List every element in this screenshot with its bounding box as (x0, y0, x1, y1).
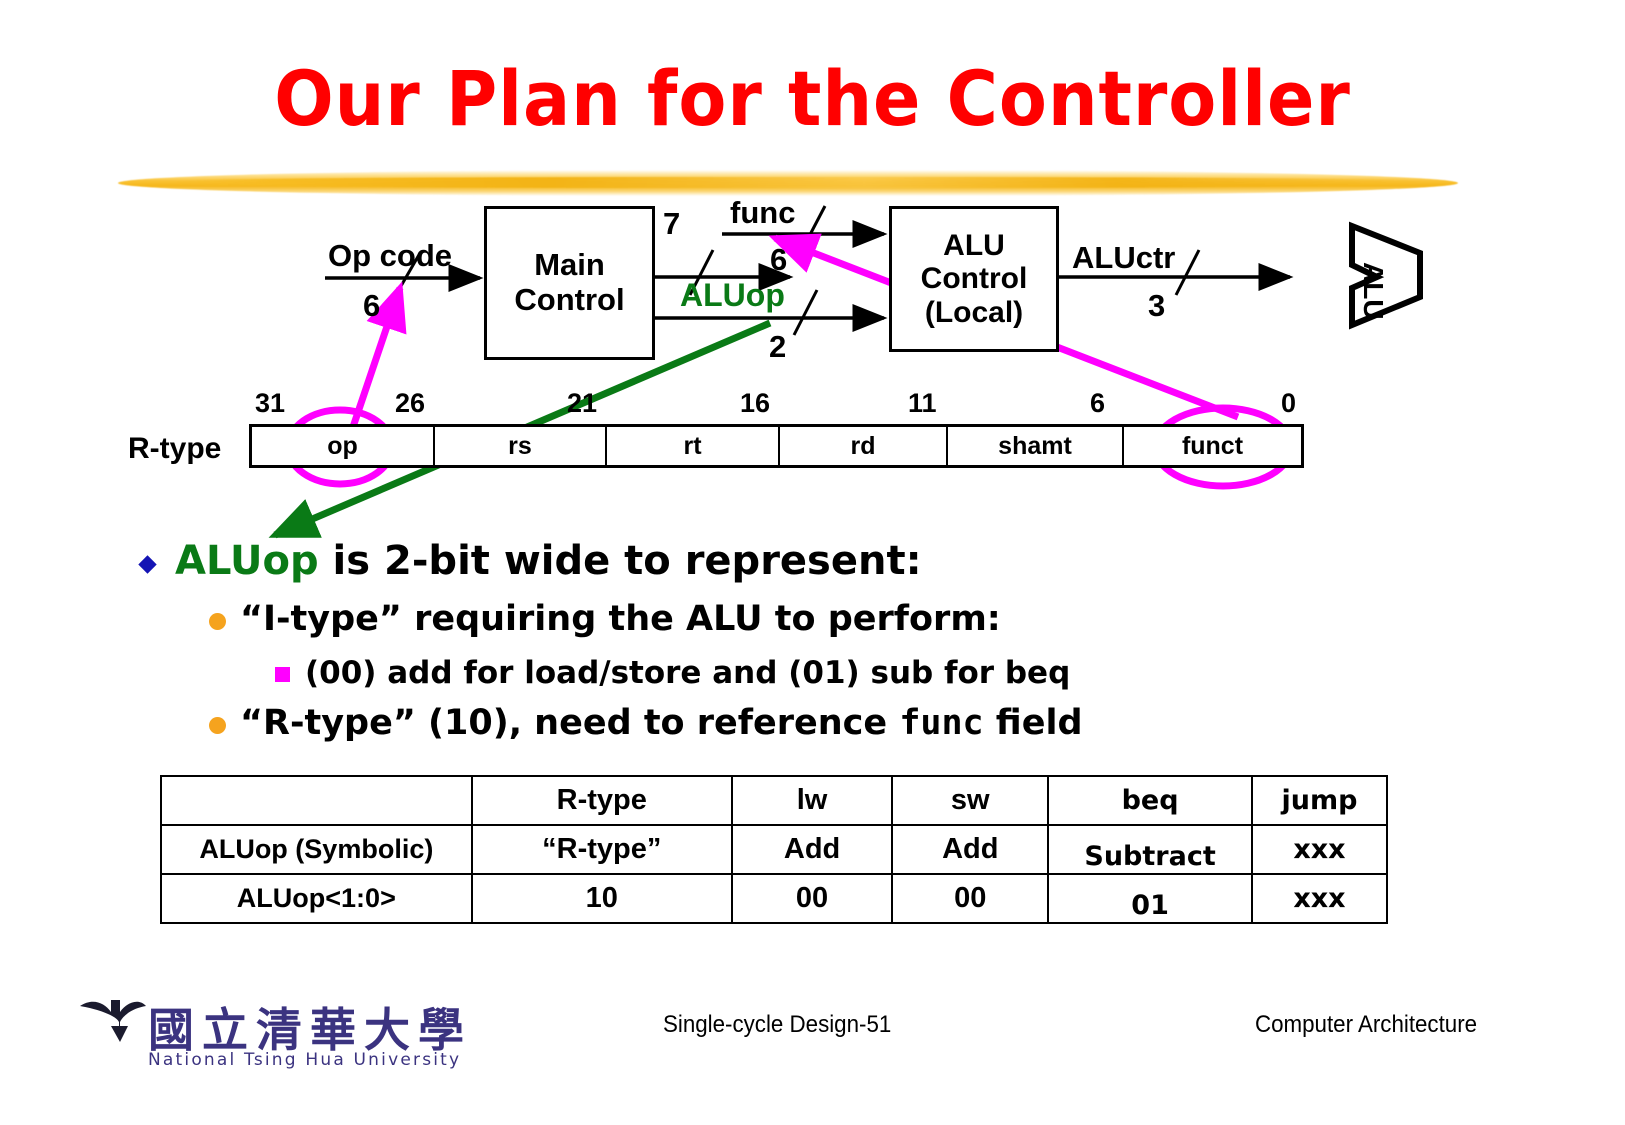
alu-control-block: ALU Control (Local) (889, 206, 1059, 352)
field-rs: rs (435, 427, 607, 465)
bullet-rtype-pre: “R-type” (10), need to reference (240, 703, 899, 743)
bullet-rtype-mono-func: func (899, 703, 983, 743)
alu-block-label: ALU (1357, 262, 1389, 320)
main-out-width-label: 7 (663, 206, 680, 242)
aluop-width-label: 2 (769, 329, 786, 365)
bullet-level1-aluop: ALUop is 2-bit wide to represent: (175, 538, 922, 584)
alu-control-line1: ALU (943, 229, 1005, 263)
aluop-encoding-table: R-type lw sw beq jump ALUop (Symbolic) “… (160, 775, 1388, 924)
table-col-beq: beq (1048, 776, 1252, 825)
alu-control-line2: Control (921, 262, 1028, 296)
alu-control-line3: (Local) (925, 296, 1023, 330)
bit-label-26: 26 (395, 388, 425, 419)
table-col-jump: jump (1252, 776, 1387, 825)
table-col-blank (161, 776, 472, 825)
cell-symbolic-rtype: “R-type” (472, 825, 732, 874)
main-control-block: Main Control (484, 206, 655, 360)
footer-right-text: Computer Architecture (1255, 1011, 1477, 1039)
main-control-line2: Control (514, 283, 624, 318)
field-rt: rt (607, 427, 780, 465)
table-col-sw: sw (892, 776, 1048, 825)
nthu-emblem-icon (78, 992, 148, 1050)
opcode-label: Op code (328, 238, 452, 274)
table-col-lw: lw (732, 776, 892, 825)
aluctr-width-label: 3 (1148, 288, 1165, 324)
bullet-marker-square (275, 667, 290, 682)
cell-symbolic-beq-text: Subtract (1084, 841, 1215, 872)
bullet-l1-rest: is 2-bit wide to represent: (319, 538, 922, 584)
cell-bits-lw: 00 (732, 874, 892, 923)
cell-bits-beq-text: 01 (1131, 890, 1169, 921)
cell-bits-rtype: 10 (472, 874, 732, 923)
cell-symbolic-jump: xxx (1252, 825, 1387, 874)
instruction-format-table: op rs rt rd shamt funct (249, 424, 1304, 468)
bullet-level2-rtype: “R-type” (10), need to reference func fi… (240, 703, 1083, 743)
table-row: ALUop (Symbolic) “R-type” Add Add Subtra… (161, 825, 1387, 874)
bit-label-0: 0 (1281, 388, 1296, 419)
field-op: op (252, 427, 435, 465)
aluctr-label: ALUctr (1072, 240, 1175, 276)
bit-label-11: 11 (908, 388, 937, 419)
bit-label-6: 6 (1090, 388, 1105, 419)
bit-label-16: 16 (740, 388, 770, 419)
slide-canvas: Our Plan for the Controller (0, 0, 1625, 1125)
row-label-bits: ALUop<1:0> (161, 874, 472, 923)
func-label: func (730, 195, 795, 231)
bullet-marker-dot-1 (209, 613, 226, 630)
cell-bits-beq: 01 (1048, 874, 1252, 923)
bit-label-21: 21 (567, 388, 597, 419)
table-header-row: R-type lw sw beq jump (161, 776, 1387, 825)
opcode-width-label: 6 (363, 288, 380, 324)
cell-bits-jump: xxx (1252, 874, 1387, 923)
bullet-level3-addsub: (00) add for load/store and (01) sub for… (305, 655, 1070, 691)
func-width-label: 6 (770, 242, 787, 278)
row-label-symbolic: ALUop (Symbolic) (161, 825, 472, 874)
bullet-aluop-green: ALUop (175, 538, 319, 584)
instr-row-label: R-type (128, 432, 221, 466)
cell-symbolic-beq: Subtract (1048, 825, 1252, 874)
field-shamt: shamt (948, 427, 1124, 465)
aluop-label: ALUop (680, 277, 785, 314)
footer-center-text: Single-cycle Design-51 (663, 1011, 891, 1039)
table-col-rtype: R-type (472, 776, 732, 825)
cell-symbolic-sw: Add (892, 825, 1048, 874)
bullet-marker-dot-2 (209, 717, 226, 734)
main-control-line1: Main (534, 248, 605, 283)
field-rd: rd (780, 427, 948, 465)
table-row: ALUop<1:0> 10 00 00 01 xxx (161, 874, 1387, 923)
bullet-level2-itype: “I-type” requiring the ALU to perform: (240, 599, 1001, 639)
nthu-logo-en: National Tsing Hua University (148, 1050, 461, 1070)
cell-bits-sw: 00 (892, 874, 1048, 923)
cell-symbolic-lw: Add (732, 825, 892, 874)
bullet-rtype-post: field (984, 703, 1083, 743)
bit-label-31: 31 (255, 388, 285, 419)
field-funct: funct (1124, 427, 1301, 465)
